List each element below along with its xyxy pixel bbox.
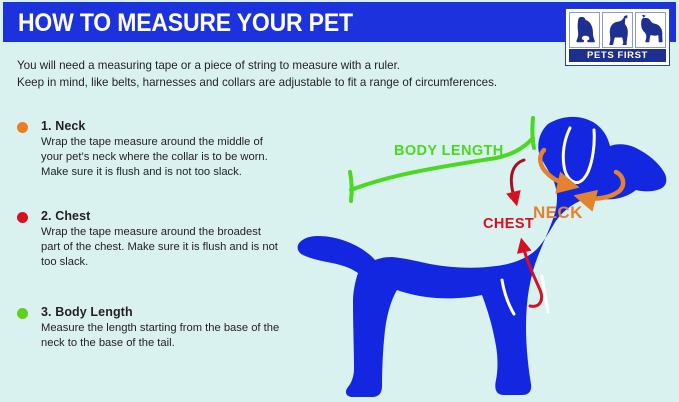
alert-dog-icon: [638, 15, 664, 45]
step-body-length: 3. Body Length Measure the length starti…: [17, 304, 302, 351]
intro-line-1: You will need a measuring tape or a piec…: [17, 57, 577, 74]
page-title: HOW TO MEASURE YOUR PET: [18, 11, 353, 36]
step-bullet-chest: [17, 212, 28, 223]
step-body-length-desc-line-2: neck to the base of the tail.: [41, 336, 302, 351]
intro-paragraph: You will need a measuring tape or a piec…: [17, 57, 577, 91]
step-neck-title: 1. Neck: [41, 118, 302, 134]
step-neck-desc-line-1: Wrap the tape measure around the middle …: [41, 135, 302, 150]
intro-line-2: Keep in mind, like belts, harnesses and …: [17, 74, 577, 91]
step-chest-title: 2. Chest: [41, 208, 302, 224]
logo-panel-alert-dog: [635, 12, 666, 48]
measurement-label-body-length: BODY LENGTH: [394, 143, 504, 159]
step-chest-desc-line-2: part of the chest. Make sure it is flush…: [41, 240, 302, 255]
step-chest: 2. Chest Wrap the tape measure around th…: [17, 208, 302, 270]
step-chest-body: 2. Chest Wrap the tape measure around th…: [41, 208, 302, 270]
step-neck-body: 1. Neck Wrap the tape measure around the…: [41, 118, 302, 180]
dog-diagram: BODY LENGTH NECK: [296, 100, 679, 400]
standing-dog-icon: [605, 15, 631, 45]
brand-logo: PETS FIRST: [565, 8, 670, 66]
poster-root: HOW TO MEASURE YOUR PET P: [0, 0, 679, 402]
step-bullet-neck: [17, 122, 28, 133]
step-neck-desc: Wrap the tape measure around the middle …: [41, 135, 302, 180]
step-neck-desc-line-3: Make sure it is flush and is not too sla…: [41, 165, 302, 180]
step-body-length-body: 3. Body Length Measure the length starti…: [41, 304, 302, 351]
measurement-label-chest: CHEST: [483, 216, 534, 232]
logo-panel-sitting-dog: [569, 12, 600, 48]
step-chest-desc-line-3: too slack.: [41, 255, 302, 270]
step-neck-desc-line-2: your pet’s neck where the collar is to b…: [41, 150, 302, 165]
logo-wordmark: PETS FIRST: [569, 49, 666, 62]
step-body-length-title: 3. Body Length: [41, 304, 302, 320]
step-bullet-body-length: [17, 308, 28, 319]
measurement-label-neck: NECK: [533, 203, 583, 222]
step-neck: 1. Neck Wrap the tape measure around the…: [17, 118, 302, 180]
step-chest-desc-line-1: Wrap the tape measure around the broades…: [41, 225, 302, 240]
sitting-dog-icon: [574, 15, 596, 45]
logo-panel-standing-dog: [602, 12, 633, 48]
logo-dog-panels: [569, 12, 666, 48]
step-chest-desc: Wrap the tape measure around the broades…: [41, 225, 302, 270]
dog-diagram-svg: BODY LENGTH NECK: [296, 100, 679, 400]
step-body-length-desc-line-1: Measure the length starting from the bas…: [41, 321, 302, 336]
measurement-body-length: BODY LENGTH: [350, 118, 534, 201]
step-body-length-desc: Measure the length starting from the bas…: [41, 321, 302, 351]
